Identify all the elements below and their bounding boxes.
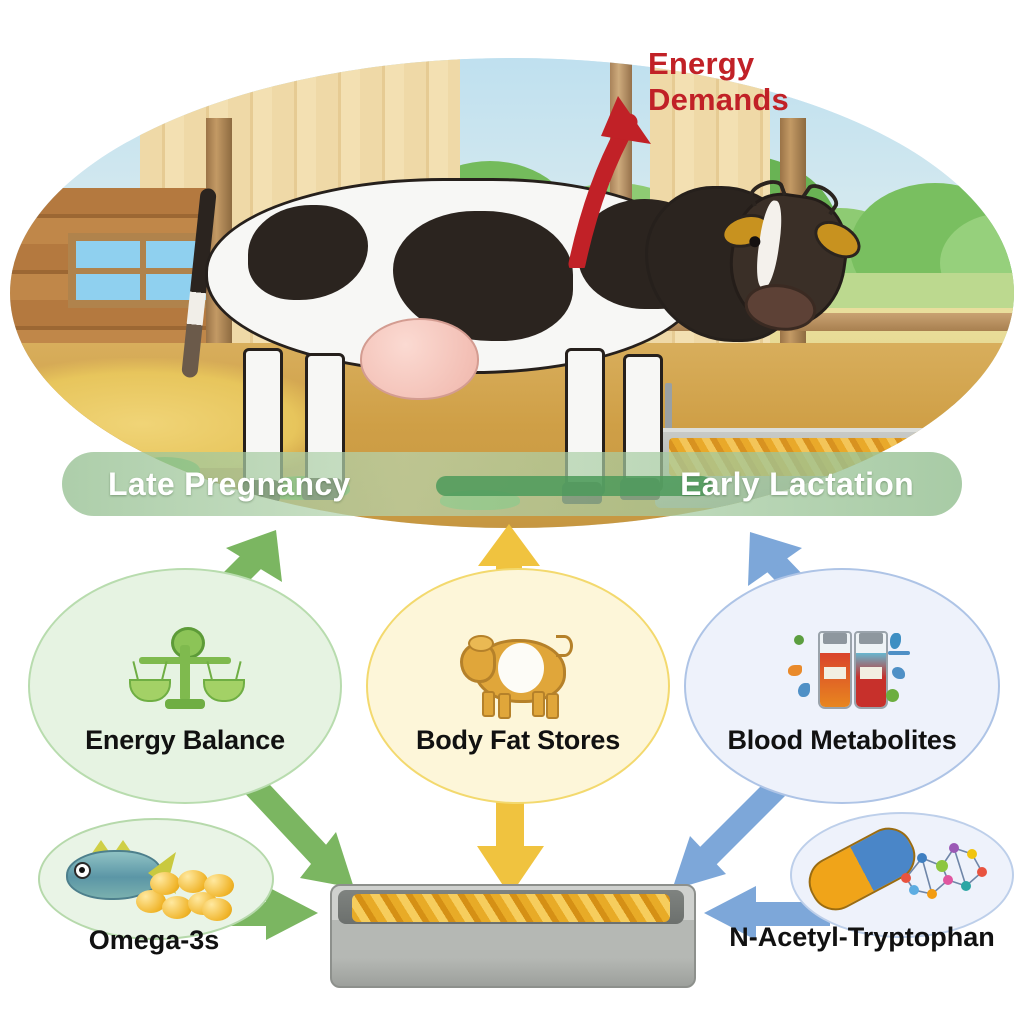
supplement-omega3s[interactable] — [38, 818, 274, 940]
energy-demands-label: Energy Demands — [648, 46, 828, 118]
supplement-n-acetyl-tryptophan[interactable] — [790, 812, 1014, 938]
node-label-body-fat-stores: Body Fat Stores — [416, 725, 620, 756]
node-label-blood-metabolites: Blood Metabolites — [727, 725, 956, 756]
balance-scale-icon — [125, 617, 245, 721]
band-connector-bar — [436, 476, 712, 496]
cow-patch — [248, 205, 368, 300]
node-body-fat-stores[interactable]: Body Fat Stores — [366, 568, 670, 804]
supplement-label-n-acetyl-tryptophan: N-Acetyl-Tryptophan — [700, 922, 1024, 953]
blood-vials-icon — [782, 617, 902, 721]
supplement-label-omega3s: Omega-3s — [38, 925, 270, 956]
cow-horn-left — [746, 176, 787, 207]
feed-trough-icon — [330, 884, 692, 984]
node-label-energy-balance: Energy Balance — [85, 725, 285, 756]
molecule-icon — [896, 828, 992, 914]
body-fat-down-arrow — [477, 790, 544, 896]
node-energy-balance[interactable]: Energy Balance — [28, 568, 342, 804]
trough-feed — [352, 894, 670, 922]
production-stage-band: Late Pregnancy Early Lactation — [62, 452, 962, 516]
fat-cow-icon — [458, 617, 578, 721]
fish-oil-capsules-icon — [136, 868, 244, 922]
node-blood-metabolites[interactable]: Blood Metabolites — [684, 568, 1000, 804]
stage-label-early-lactation: Early Lactation — [680, 452, 914, 516]
infographic-canvas: Energy Demands Late Pregnancy Early Lact… — [0, 0, 1024, 1024]
cow-udder — [360, 318, 479, 400]
stage-label-late-pregnancy: Late Pregnancy — [108, 452, 351, 516]
